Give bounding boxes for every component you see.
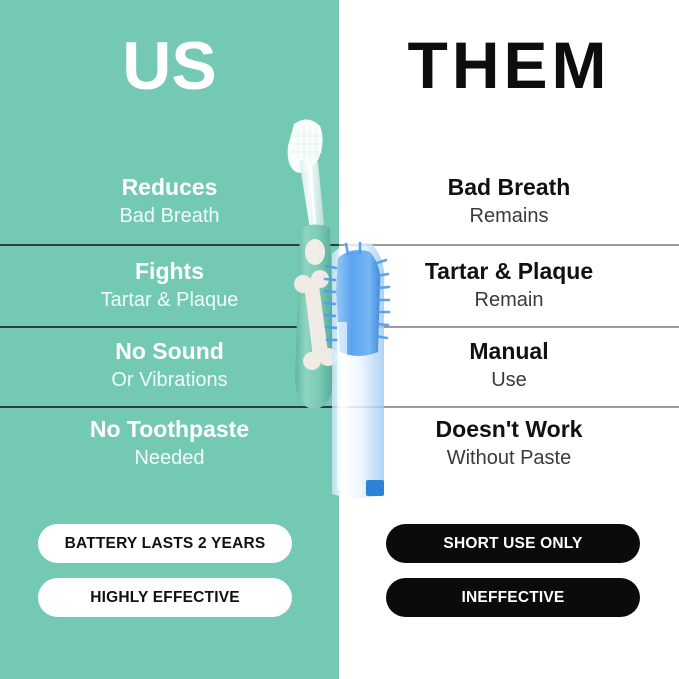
us-row-0-title: Reduces bbox=[0, 174, 339, 201]
us-row-2: No Sound Or Vibrations bbox=[0, 338, 339, 393]
row-divider-3-right bbox=[339, 406, 679, 408]
them-row-2: Manual Use bbox=[339, 338, 679, 393]
us-heading: US bbox=[0, 32, 339, 100]
them-row-1-subtitle: Remain bbox=[339, 288, 679, 313]
row-divider-2-left bbox=[0, 326, 339, 328]
row-divider-1-left bbox=[0, 244, 339, 246]
them-row-0-title: Bad Breath bbox=[339, 174, 679, 201]
us-row-3-title: No Toothpaste bbox=[0, 416, 339, 443]
us-row-2-subtitle: Or Vibrations bbox=[0, 368, 339, 393]
row-divider-3 bbox=[0, 406, 679, 408]
us-row-0-subtitle: Bad Breath bbox=[0, 204, 339, 229]
them-row-0-subtitle: Remains bbox=[339, 204, 679, 229]
row-divider-1-right bbox=[339, 244, 679, 246]
them-badge-ineffective[interactable]: INEFFECTIVE bbox=[386, 578, 640, 617]
them-row-1-title: Tartar & Plaque bbox=[339, 258, 679, 285]
them-row-3-title: Doesn't Work bbox=[339, 416, 679, 443]
them-heading: THEM bbox=[339, 32, 679, 98]
them-badge-short-use[interactable]: SHORT USE ONLY bbox=[386, 524, 640, 563]
us-row-1: Fights Tartar & Plaque bbox=[0, 258, 339, 313]
us-row-1-subtitle: Tartar & Plaque bbox=[0, 288, 339, 313]
row-divider-1 bbox=[0, 244, 679, 246]
them-row-0: Bad Breath Remains bbox=[339, 174, 679, 229]
row-divider-2-right bbox=[339, 326, 679, 328]
us-row-0: Reduces Bad Breath bbox=[0, 174, 339, 229]
row-divider-3-left bbox=[0, 406, 339, 408]
them-row-3-subtitle: Without Paste bbox=[339, 446, 679, 471]
them-row-2-title: Manual bbox=[339, 338, 679, 365]
us-row-2-title: No Sound bbox=[0, 338, 339, 365]
us-badge-battery[interactable]: BATTERY LASTS 2 YEARS bbox=[38, 524, 292, 563]
them-row-2-subtitle: Use bbox=[339, 368, 679, 393]
us-row-3-subtitle: Needed bbox=[0, 446, 339, 471]
us-badge-effective[interactable]: HIGHLY EFFECTIVE bbox=[38, 578, 292, 617]
them-row-3: Doesn't Work Without Paste bbox=[339, 416, 679, 471]
them-row-1: Tartar & Plaque Remain bbox=[339, 258, 679, 313]
us-row-3: No Toothpaste Needed bbox=[0, 416, 339, 471]
comparison-infographic: US THEM Reduces Bad Breath Bad Breath Re… bbox=[0, 0, 679, 679]
us-row-1-title: Fights bbox=[0, 258, 339, 285]
row-divider-2 bbox=[0, 326, 679, 328]
